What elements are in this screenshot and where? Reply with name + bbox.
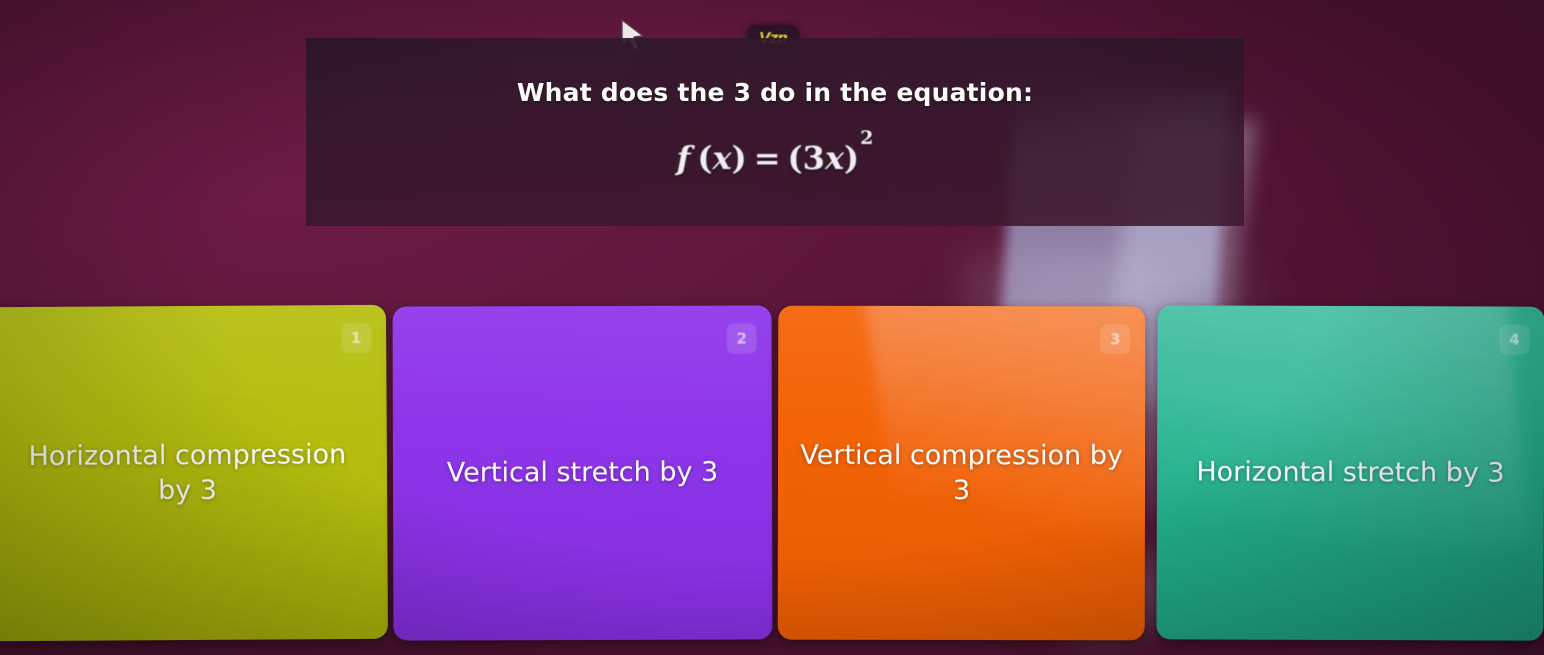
answer-options-row: 1 Horizontal compression by 3 2 Vertical… xyxy=(0,306,1544,642)
answer-number-badge-1: 1 xyxy=(341,323,371,353)
equation-close-paren-1: ) xyxy=(732,139,747,177)
equation-equals-sign: = xyxy=(754,139,781,177)
tile-glare-reflection xyxy=(1156,305,1530,586)
answer-label-4: Horizontal stretch by 3 xyxy=(1176,455,1524,491)
question-panel: What does the 3 do in the equation: f ( … xyxy=(306,38,1244,226)
equation-exponent: 2 xyxy=(860,127,873,149)
question-equation: f ( x ) = ( 3 x ) 2 xyxy=(677,139,874,177)
answer-number-badge-2: 2 xyxy=(727,324,757,354)
answer-number-badge-4: 4 xyxy=(1499,325,1529,355)
equation-variable-2: x xyxy=(825,139,844,177)
answer-tile-4[interactable]: 4 Horizontal stretch by 3 xyxy=(1156,305,1544,640)
equation-function-name: f xyxy=(677,139,691,177)
answer-number-badge-3: 3 xyxy=(1100,324,1130,354)
equation-close-paren-2: ) xyxy=(844,139,859,177)
answer-label-3: Vertical compression by 3 xyxy=(778,438,1145,509)
equation-variable-1: x xyxy=(713,139,732,177)
answer-tile-1[interactable]: 1 Horizontal compression by 3 xyxy=(0,305,388,641)
answer-tile-3[interactable]: 3 Vertical compression by 3 xyxy=(778,306,1146,641)
answer-label-1: Horizontal compression by 3 xyxy=(0,437,387,510)
equation-open-paren-2: ( xyxy=(788,139,803,177)
equation-coefficient: 3 xyxy=(803,139,825,177)
equation-open-paren-1: ( xyxy=(697,139,712,177)
question-prompt: What does the 3 do in the equation: xyxy=(517,78,1033,107)
answer-label-2: Vertical stretch by 3 xyxy=(427,455,739,491)
answer-tile-2[interactable]: 2 Vertical stretch by 3 xyxy=(392,306,772,641)
